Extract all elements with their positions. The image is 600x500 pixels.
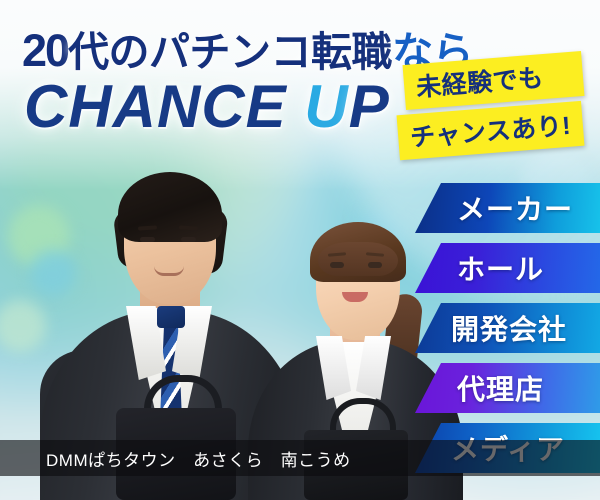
category-item-agency[interactable]: 代理店 [415, 363, 600, 413]
category-label: 開発会社 [451, 308, 567, 348]
caption-bar: DMMぱちタウン あさくら 南こうめ [0, 440, 600, 476]
category-label: 代理店 [457, 368, 544, 408]
category-item-hall[interactable]: ホール [415, 243, 600, 293]
category-item-maker[interactable]: メーカー [415, 183, 600, 233]
caption-text: DMMぱちタウン あさくら 南こうめ [46, 446, 351, 471]
promo-banner: 20代のパチンコ転職なら CHANCE UP 未経験でも チャンスあり! メーカ… [0, 0, 600, 500]
highlight-badge: 未経験でも チャンスあり! [398, 58, 583, 153]
category-item-developer[interactable]: 開発会社 [415, 303, 600, 353]
category-label: メーカー [457, 188, 573, 228]
category-label: ホール [457, 248, 544, 288]
badge-line-2: チャンスあり! [397, 101, 585, 160]
badge-line-1: 未経験でも [403, 51, 585, 110]
